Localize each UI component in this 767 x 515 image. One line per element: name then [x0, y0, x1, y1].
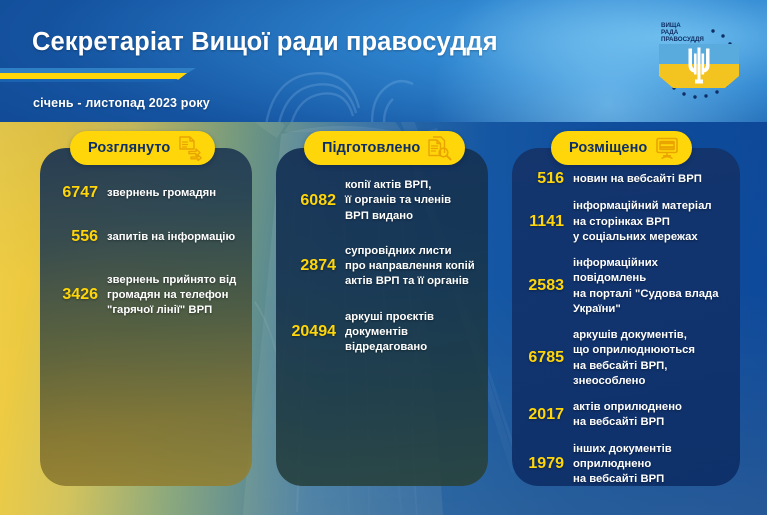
stat-card-rozglyanuto: 6747 звернень громадян 556 запитів на ін…: [40, 148, 252, 486]
stat-value: 20494: [280, 323, 336, 341]
stat-row: 20494 аркуші проєктів документів відреда…: [280, 310, 478, 356]
stat-row: 1979 інших документів оприлюднено на веб…: [522, 442, 730, 486]
stat-row: 6785 аркушів документів, що оприлюднюють…: [522, 328, 730, 389]
logo-line-3: ПРАВОСУДДЯ: [661, 36, 704, 43]
stat-label: супровідних листи про направлення копій …: [345, 244, 475, 290]
stat-label: копії актів ВРП, її органів та членів ВР…: [345, 178, 451, 224]
vrp-emblem-logo: ВИЩА РАДА ПРАВОСУДДЯ: [639, 18, 747, 110]
stat-value: 6747: [52, 184, 98, 202]
stat-label: запитів на інформацію: [107, 230, 235, 245]
stat-row: 2874 супровідних листи про направлення к…: [280, 244, 478, 290]
stat-row: 2017 актів оприлюднено на вебсайті ВРП: [522, 400, 730, 431]
card-header-pill-rozmishcheno[interactable]: Розміщено: [551, 131, 692, 165]
stat-value: 3426: [52, 286, 98, 304]
stat-row: 516 новин на вебсайті ВРП: [522, 170, 730, 188]
stat-value: 516: [522, 170, 564, 188]
stat-row: 1141 інформаційний матеріал на сторінках…: [522, 199, 730, 245]
stat-card-rozmishcheno: 516 новин на вебсайті ВРП 1141 інформаці…: [512, 148, 740, 486]
documents-magnifier-icon: [427, 135, 453, 161]
stat-label: новин на вебсайті ВРП: [573, 172, 702, 187]
logo-line-1: ВИЩА: [661, 22, 681, 29]
stat-rows: 6082 копії актів ВРП, її органів та член…: [276, 148, 488, 486]
stat-label: інших документів оприлюднено на вебсайті…: [573, 442, 672, 486]
stat-value: 1979: [522, 455, 564, 473]
page-header: Секретаріат Вищої ради правосуддя січень…: [0, 0, 767, 122]
stat-row: 2583 інформаційних повідомлень на портал…: [522, 256, 730, 317]
stat-label: звернень прийнято від громадян на телефо…: [107, 273, 236, 319]
stat-row: 6747 звернень громадян: [52, 184, 242, 202]
stat-value: 556: [52, 228, 98, 246]
stat-rows: 516 новин на вебсайті ВРП 1141 інформаці…: [512, 148, 740, 486]
stat-label: актів оприлюднено на вебсайті ВРП: [573, 400, 682, 431]
stat-rows: 6747 звернень громадян 556 запитів на ін…: [40, 148, 252, 486]
card-header-pill-pidhotovleno[interactable]: Підготовлено: [304, 131, 465, 165]
stat-label: звернень громадян: [107, 186, 216, 201]
stat-value: 6785: [522, 349, 564, 367]
document-arrows-icon: [177, 135, 203, 161]
pill-label: Розміщено: [569, 140, 647, 156]
pill-label: Розглянуто: [88, 140, 170, 156]
page-title: Секретаріат Вищої ради правосуддя: [32, 28, 498, 57]
stat-card-pidhotovleno: 6082 копії актів ВРП, її органів та член…: [276, 148, 488, 486]
infographic-poster: Секретаріат Вищої ради правосуддя січень…: [0, 0, 767, 515]
stat-value: 2017: [522, 406, 564, 424]
stat-value: 2874: [280, 257, 336, 275]
stat-row: 3426 звернень прийнято від громадян на т…: [52, 273, 242, 319]
stat-label: аркуші проєктів документів відредаговано: [345, 310, 434, 356]
stat-value: 1141: [522, 213, 564, 231]
stat-label: інформаційний матеріал на сторінках ВРП …: [573, 199, 712, 245]
card-header-pill-rozglyanuto[interactable]: Розглянуто: [70, 131, 215, 165]
stat-value: 2583: [522, 277, 564, 295]
logo-line-2: РАДА: [661, 29, 679, 36]
stat-label: інформаційних повідомлень на порталі "Су…: [573, 256, 719, 317]
monitor-icon: [654, 135, 680, 161]
ua-ribbon-decoration: [0, 68, 200, 82]
stat-value: 6082: [280, 192, 336, 210]
stat-row: 556 запитів на інформацію: [52, 228, 242, 246]
pill-label: Підготовлено: [322, 140, 420, 156]
page-subtitle: січень - листопад 2023 року: [33, 96, 210, 110]
stat-label: аркушів документів, що оприлюднюються на…: [573, 328, 695, 389]
stat-row: 6082 копії актів ВРП, її органів та член…: [280, 178, 478, 224]
